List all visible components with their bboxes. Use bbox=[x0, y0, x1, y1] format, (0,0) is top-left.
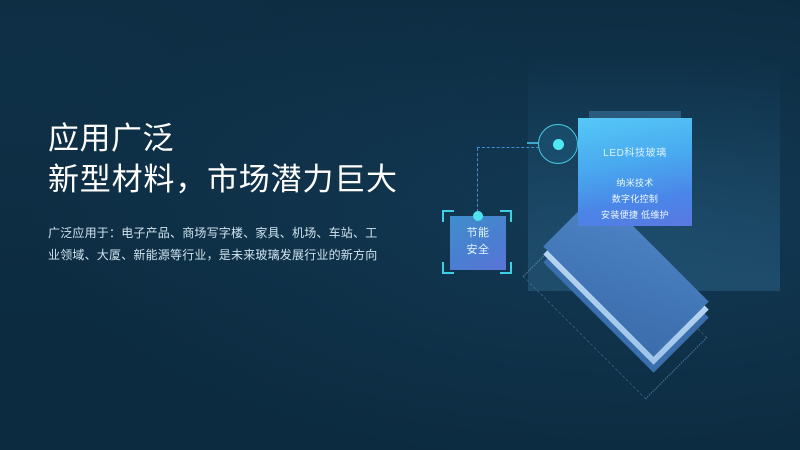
panel-feature-2: 数字化控制 bbox=[578, 191, 692, 207]
headline-line-1: 应用广泛 bbox=[48, 118, 398, 159]
badge-anchor-dot bbox=[473, 211, 483, 221]
node-core-dot bbox=[553, 139, 564, 150]
panel-feature-3: 安装便捷 低维护 bbox=[578, 207, 692, 223]
node-ring-icon bbox=[538, 124, 578, 164]
panel-feature-1: 纳米技术 bbox=[578, 175, 692, 191]
led-glass-panel: LED科技玻璃 纳米技术 数字化控制 安装便捷 低维护 bbox=[578, 118, 692, 226]
feature-badge: 节能 安全 bbox=[442, 210, 514, 276]
headline-line-2: 新型材料，市场潜力巨大 bbox=[48, 159, 398, 200]
badge-label-line-2: 安全 bbox=[450, 242, 506, 259]
badge-label-line-1: 节能 bbox=[450, 225, 506, 242]
page-title: 应用广泛 新型材料，市场潜力巨大 bbox=[48, 118, 398, 200]
panel-title: LED科技玻璃 bbox=[578, 144, 692, 159]
connector-line-horizontal bbox=[477, 147, 539, 148]
body-paragraph: 广泛应用于：电子产品、商场写字楼、家具、机场、车站、工业领域、大厦、新能源等行业… bbox=[48, 222, 378, 266]
slide-canvas: 应用广泛 新型材料，市场潜力巨大 广泛应用于：电子产品、商场写字楼、家具、机场、… bbox=[0, 0, 800, 450]
connector-line-vertical bbox=[477, 148, 478, 212]
badge-body: 节能 安全 bbox=[450, 216, 506, 270]
